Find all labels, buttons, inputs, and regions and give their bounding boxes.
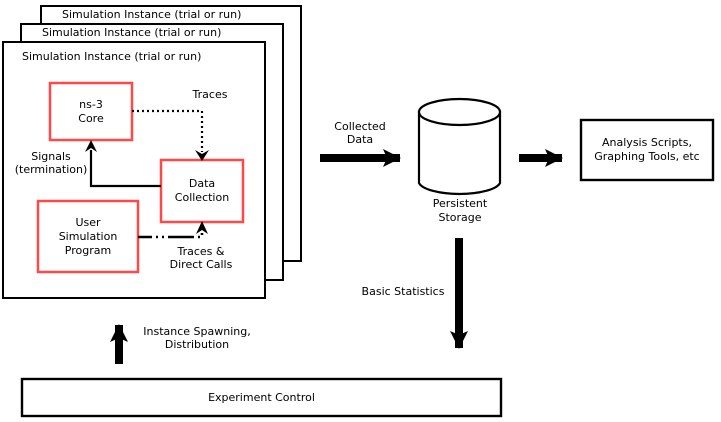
persistent-storage-cylinder-top <box>419 99 500 125</box>
experiment-control-label: Experiment Control <box>22 379 501 416</box>
persistent-storage-label: Persistent Storage <box>405 196 515 226</box>
ns3-core-label: ns-3 Core <box>50 83 132 140</box>
simulation-instance-title-back: Simulation Instance (trial or run) <box>62 8 241 21</box>
diagram-canvas: Simulation Instance (trial or run) Simul… <box>0 0 721 422</box>
simulation-instance-title-front: Simulation Instance (trial or run) <box>22 50 201 63</box>
simulation-instance-title-middle: Simulation Instance (trial or run) <box>42 26 221 39</box>
user-simulation-program-label: User Simulation Program <box>38 201 138 272</box>
data-collection-label: Data Collection <box>161 160 243 222</box>
analysis-scripts-label: Analysis Scripts, Graphing Tools, etc <box>581 120 713 180</box>
